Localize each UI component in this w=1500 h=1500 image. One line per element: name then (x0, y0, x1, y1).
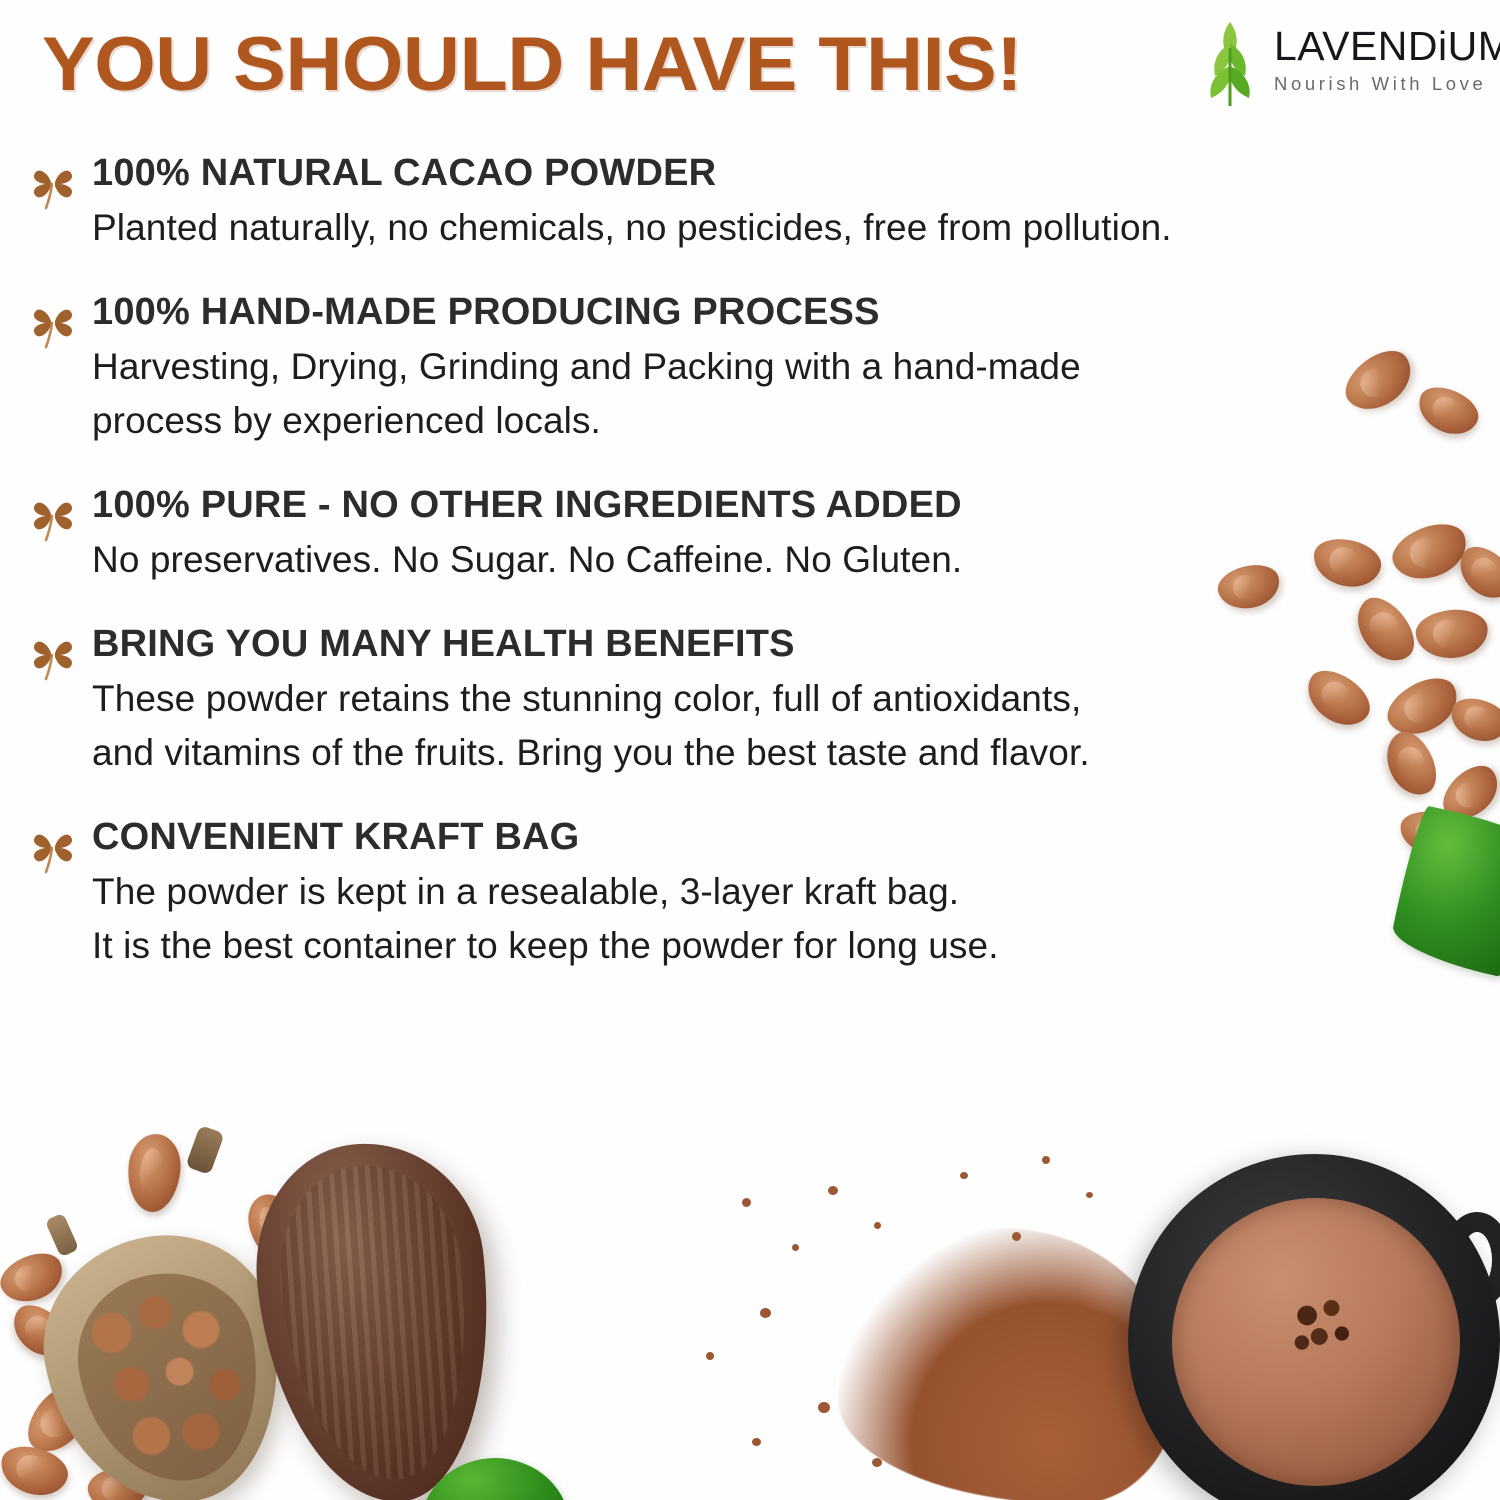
feature-title: BRING YOU MANY HEALTH BENEFITS (92, 621, 1470, 667)
feature-title: 100% HAND-MADE PRODUCING PROCESS (92, 289, 1470, 335)
feature-body-line: The powder is kept in a resealable, 3-la… (92, 865, 1470, 919)
four-leaf-clover-icon (30, 162, 76, 210)
brand-tagline: Nourish With Love (1274, 73, 1480, 95)
feature-item: CONVENIENT KRAFT BAG The powder is kept … (0, 814, 1470, 973)
feature-body-line: It is the best container to keep the pow… (92, 919, 1470, 973)
feature-body: Planted naturally, no chemicals, no pest… (92, 201, 1470, 255)
cacao-bean (243, 1190, 302, 1265)
cacao-bean (17, 1377, 98, 1463)
cacao-bean (85, 1464, 150, 1500)
cocoa-powder-speck (874, 1222, 881, 1229)
cocoa-powder-speck (752, 1438, 761, 1446)
hot-chocolate-surface (1172, 1198, 1460, 1486)
feature-title: 100% PURE - NO OTHER INGREDIENTS ADDED (92, 482, 1470, 528)
feature-body-line: process by experienced locals. (92, 394, 1470, 448)
infographic-page: YOU SHOULD HAVE THIS! LAVENDiUM Nourish … (0, 0, 1500, 1500)
whole-cacao-pod (244, 1132, 508, 1500)
page-title: YOU SHOULD HAVE THIS! (42, 22, 1022, 108)
cacao-bean (124, 1131, 184, 1214)
cocoa-powder-speck (742, 1198, 751, 1207)
feature-body: The powder is kept in a resealable, 3-la… (92, 865, 1470, 973)
cocoa-powder-speck (1042, 1156, 1050, 1164)
four-leaf-clover-icon (30, 301, 76, 349)
feature-title: 100% NATURAL CACAO POWDER (92, 150, 1470, 196)
feature-item: BRING YOU MANY HEALTH BENEFITS These pow… (0, 621, 1470, 780)
cacao-bean (180, 1256, 250, 1320)
cocoa-powder-speck (1012, 1232, 1021, 1241)
cocoa-powder-speck (960, 1172, 968, 1179)
feature-body-line: Harvesting, Drying, Grinding and Packing… (92, 340, 1470, 394)
cacao-bean (250, 1287, 316, 1351)
feature-body: Harvesting, Drying, Grinding and Packing… (92, 340, 1470, 448)
four-leaf-clover-icon (30, 494, 76, 542)
cocoa-powder-speck (818, 1402, 830, 1413)
cocoa-powder-speck (760, 1308, 771, 1318)
feature-body-line: These powder retains the stunning color,… (92, 672, 1470, 726)
hot-chocolate-cup (1128, 1154, 1500, 1500)
feature-body-line: Planted naturally, no chemicals, no pest… (92, 201, 1470, 255)
feature-item: 100% PURE - NO OTHER INGREDIENTS ADDED N… (0, 482, 1470, 587)
leaf-wheat-icon (1186, 18, 1274, 110)
green-leaf-bottom (420, 1458, 570, 1500)
cocoa-powder-speck (828, 1186, 838, 1195)
feature-body-line: No preservatives. No Sugar. No Caffeine.… (92, 533, 1470, 587)
cacao-bean (0, 1245, 70, 1311)
feature-body: No preservatives. No Sugar. No Caffeine.… (92, 533, 1470, 587)
feature-list: 100% NATURAL CACAO POWDER Planted natura… (0, 150, 1470, 973)
four-leaf-clover-icon (30, 826, 76, 874)
cocoa-powder-speck (706, 1352, 714, 1360)
brand-logo: LAVENDiUM Nourish With Love (1182, 14, 1482, 114)
feature-item: 100% HAND-MADE PRODUCING PROCESS Harvest… (0, 289, 1470, 448)
brand-name: LAVENDiUM (1274, 24, 1480, 68)
cocoa-powder-mound (838, 1228, 1178, 1500)
cacao-pod-stem (185, 1125, 224, 1175)
cocoa-powder-speck (1086, 1192, 1093, 1198)
cocoa-powder-speck (792, 1244, 799, 1251)
cup-handle (1442, 1212, 1500, 1308)
cacao-bean (3, 1296, 76, 1366)
four-leaf-clover-icon (30, 633, 76, 681)
cacao-pod-stem (45, 1213, 80, 1258)
header: YOU SHOULD HAVE THIS! LAVENDiUM Nourish … (0, 0, 1500, 132)
feature-body: These powder retains the stunning color,… (92, 672, 1470, 780)
feature-item: 100% NATURAL CACAO POWDER Planted natura… (0, 150, 1470, 255)
feature-body-line: and vitamins of the fruits. Bring you th… (92, 726, 1470, 780)
feature-title: CONVENIENT KRAFT BAG (92, 814, 1470, 860)
cocoa-powder-speck (872, 1458, 882, 1467)
open-cacao-pod (26, 1218, 301, 1500)
cacao-bean (0, 1440, 73, 1500)
logo-text: LAVENDiUM Nourish With Love (1274, 24, 1480, 95)
